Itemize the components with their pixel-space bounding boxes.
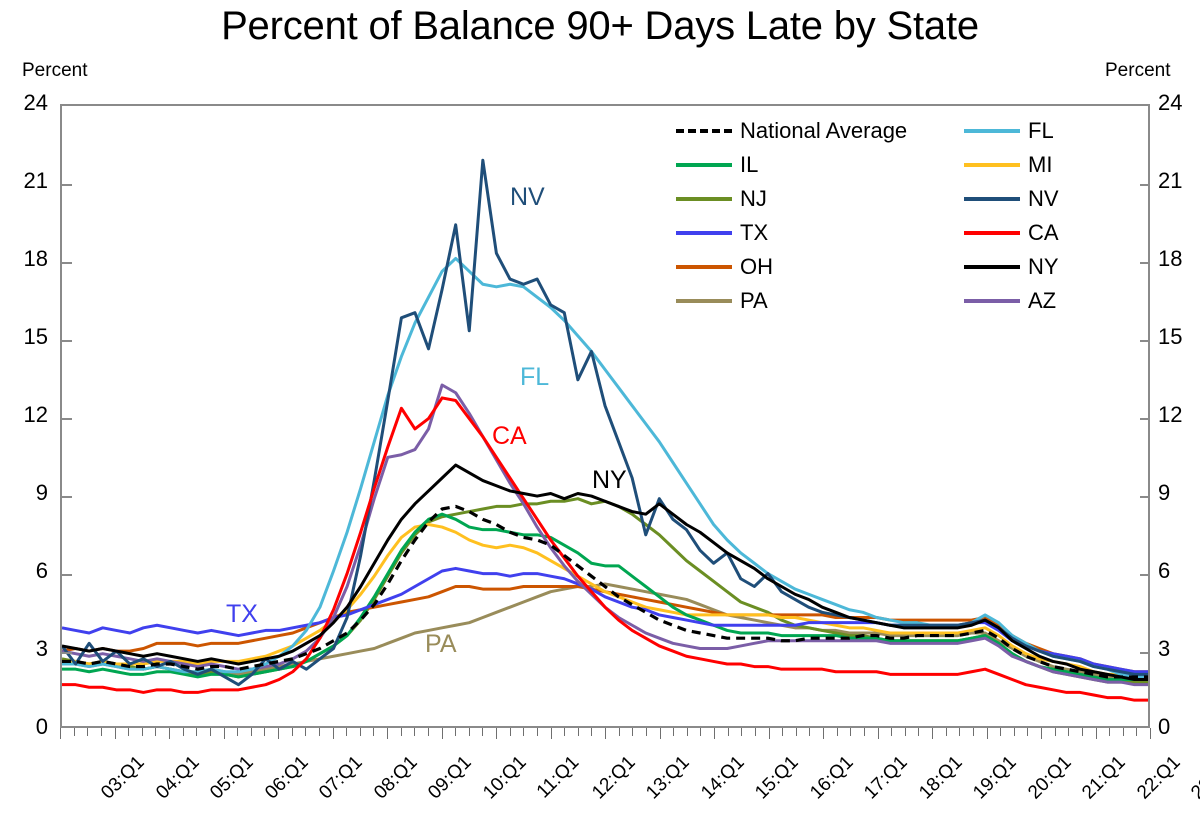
x-tick-mark: [210, 728, 211, 736]
x-tick-mark: [278, 728, 279, 739]
x-tick-mark: [346, 728, 347, 736]
x-tick-mark: [414, 728, 415, 736]
x-tick-mark: [1150, 728, 1151, 739]
x-tick-mark: [115, 728, 116, 739]
legend-label: PA: [740, 290, 768, 312]
y-tick-label-left: 12: [2, 402, 48, 428]
x-tick-label: 22:Q1: [1133, 752, 1185, 804]
x-tick-mark: [442, 728, 443, 739]
x-tick-mark: [74, 728, 75, 736]
x-tick-mark: [823, 728, 824, 739]
x-tick-mark: [183, 728, 184, 736]
x-tick-mark: [428, 728, 429, 736]
x-tick-label: 12:Q1: [588, 752, 640, 804]
y-tick-label-left: 9: [2, 480, 48, 506]
legend-item-national[interactable]: National Average: [676, 114, 907, 148]
legend-swatch-icon: [676, 163, 732, 167]
legend-item-fl[interactable]: FL: [964, 114, 1059, 148]
legend-swatch-icon: [964, 299, 1020, 303]
legend-column-right: FLMINVCANYAZ: [964, 114, 1059, 318]
x-tick-label: 21:Q1: [1078, 752, 1130, 804]
x-tick-mark: [769, 728, 770, 739]
x-tick-mark: [905, 728, 906, 736]
legend-item-pa[interactable]: PA: [676, 284, 907, 318]
series-annotation-ca: CA: [492, 422, 527, 451]
series-line-ny: [62, 465, 1148, 679]
x-tick-label: 20:Q1: [1024, 752, 1076, 804]
x-tick-label: 17:Q1: [860, 752, 912, 804]
legend-label: NJ: [740, 188, 767, 210]
x-tick-mark: [946, 728, 947, 736]
x-tick-mark: [510, 728, 511, 736]
y-tick-mark: [1140, 184, 1150, 186]
y-tick-label-left: 6: [2, 558, 48, 584]
x-tick-mark: [469, 728, 470, 736]
x-tick-mark: [1123, 728, 1124, 736]
x-tick-mark: [455, 728, 456, 736]
x-tick-mark: [728, 728, 729, 736]
y-tick-label-right: 9: [1158, 480, 1200, 506]
x-tick-mark: [237, 728, 238, 736]
x-tick-label: 03:Q1: [97, 752, 149, 804]
x-tick-mark: [741, 728, 742, 736]
x-tick-mark: [1055, 728, 1056, 736]
x-tick-label: 18:Q1: [915, 752, 967, 804]
x-tick-label: 04:Q1: [152, 752, 204, 804]
y-tick-mark: [62, 262, 72, 264]
y-tick-label-right: 21: [1158, 168, 1200, 194]
series-line-az: [62, 385, 1148, 685]
x-tick-mark: [1041, 728, 1042, 739]
legend-item-nv[interactable]: NV: [964, 182, 1059, 216]
series-annotation-fl: FL: [520, 363, 549, 392]
y-tick-mark: [1140, 262, 1150, 264]
series-annotation-nv: NV: [510, 183, 545, 212]
legend-label: AZ: [1028, 290, 1056, 312]
chart-title: Percent of Balance 90+ Days Late by Stat…: [0, 4, 1200, 49]
y-tick-mark: [1140, 340, 1150, 342]
x-tick-label: 13:Q1: [642, 752, 694, 804]
x-tick-mark: [646, 728, 647, 736]
legend-swatch-icon: [676, 231, 732, 235]
x-tick-mark: [496, 728, 497, 739]
legend-swatch-icon: [676, 265, 732, 269]
series-line-mi: [62, 525, 1148, 677]
y-tick-mark: [62, 574, 72, 576]
legend-label: TX: [740, 222, 768, 244]
legend-label: MI: [1028, 154, 1052, 176]
x-tick-mark: [1136, 728, 1137, 736]
x-tick-label: 15:Q1: [751, 752, 803, 804]
x-tick-mark: [932, 728, 933, 739]
legend-item-oh[interactable]: OH: [676, 250, 907, 284]
y-tick-label-right: 0: [1158, 714, 1200, 740]
y-tick-label-left: 24: [2, 90, 48, 116]
x-tick-mark: [537, 728, 538, 736]
x-tick-mark: [142, 728, 143, 736]
x-tick-mark: [1014, 728, 1015, 736]
x-tick-mark: [837, 728, 838, 736]
x-tick-mark: [523, 728, 524, 736]
legend-label: OH: [740, 256, 773, 278]
y-tick-mark: [62, 340, 72, 342]
x-tick-mark: [850, 728, 851, 736]
x-tick-mark: [878, 728, 879, 739]
series-annotation-tx: TX: [226, 600, 258, 629]
legend-swatch-icon: [964, 129, 1020, 133]
y-tick-mark: [1140, 418, 1150, 420]
x-tick-mark: [959, 728, 960, 736]
y-tick-mark: [62, 496, 72, 498]
x-tick-mark: [482, 728, 483, 736]
x-tick-label: 14:Q1: [697, 752, 749, 804]
legend-item-mi[interactable]: MI: [964, 148, 1059, 182]
legend-item-ny[interactable]: NY: [964, 250, 1059, 284]
x-tick-mark: [973, 728, 974, 736]
x-tick-mark: [224, 728, 225, 739]
x-tick-mark: [632, 728, 633, 736]
y-tick-label-left: 3: [2, 636, 48, 662]
x-tick-mark: [251, 728, 252, 736]
x-tick-mark: [619, 728, 620, 736]
x-tick-mark: [1096, 728, 1097, 739]
x-tick-mark: [700, 728, 701, 736]
x-tick-mark: [101, 728, 102, 736]
x-tick-mark: [660, 728, 661, 739]
x-tick-mark: [714, 728, 715, 739]
legend-swatch-icon: [964, 265, 1020, 269]
x-tick-mark: [196, 728, 197, 736]
x-tick-label: 16:Q1: [806, 752, 858, 804]
y-tick-label-right: 24: [1158, 90, 1200, 116]
x-tick-mark: [605, 728, 606, 739]
legend-swatch-icon: [676, 129, 732, 133]
x-tick-mark: [591, 728, 592, 736]
legend-swatch-icon: [964, 197, 1020, 201]
x-tick-mark: [755, 728, 756, 736]
y-axis-unit-right: Percent: [1105, 60, 1170, 82]
x-tick-mark: [687, 728, 688, 736]
x-tick-mark: [578, 728, 579, 736]
y-tick-mark: [1140, 652, 1150, 654]
y-tick-mark: [62, 418, 72, 420]
y-tick-mark: [62, 184, 72, 186]
x-tick-mark: [169, 728, 170, 739]
x-tick-label: 23:Q1: [1187, 752, 1200, 804]
x-tick-mark: [864, 728, 865, 736]
x-tick-mark: [319, 728, 320, 736]
y-tick-label-right: 15: [1158, 324, 1200, 350]
y-tick-label-right: 3: [1158, 636, 1200, 662]
y-tick-label-right: 6: [1158, 558, 1200, 584]
legend-label: FL: [1028, 120, 1054, 142]
y-tick-label-right: 18: [1158, 246, 1200, 272]
x-tick-label: 10:Q1: [479, 752, 531, 804]
series-annotation-pa: PA: [425, 630, 457, 659]
x-tick-mark: [373, 728, 374, 736]
x-tick-mark: [60, 728, 61, 739]
legend-label: NY: [1028, 256, 1059, 278]
x-tick-label: 08:Q1: [370, 752, 422, 804]
x-tick-mark: [305, 728, 306, 736]
legend-swatch-icon: [964, 231, 1020, 235]
x-tick-mark: [987, 728, 988, 739]
legend-item-ca[interactable]: CA: [964, 216, 1059, 250]
legend-label: IL: [740, 154, 758, 176]
series-annotation-ny: NY: [592, 466, 627, 495]
x-tick-mark: [551, 728, 552, 739]
x-tick-mark: [564, 728, 565, 736]
x-tick-mark: [796, 728, 797, 736]
x-tick-mark: [1082, 728, 1083, 736]
y-tick-label-left: 0: [2, 714, 48, 740]
series-line-ca: [62, 398, 1148, 700]
y-tick-mark: [62, 652, 72, 654]
chart-page: Percent of Balance 90+ Days Late by Stat…: [0, 0, 1200, 821]
y-tick-label-left: 18: [2, 246, 48, 272]
x-tick-mark: [360, 728, 361, 736]
x-tick-mark: [264, 728, 265, 736]
x-tick-mark: [918, 728, 919, 736]
x-tick-label: 05:Q1: [206, 752, 258, 804]
y-tick-mark: [1140, 496, 1150, 498]
x-tick-label: 19:Q1: [969, 752, 1021, 804]
x-tick-mark: [87, 728, 88, 736]
x-tick-mark: [1027, 728, 1028, 736]
legend-swatch-icon: [676, 197, 732, 201]
y-tick-label-left: 15: [2, 324, 48, 350]
y-tick-label-left: 21: [2, 168, 48, 194]
legend-label: NV: [1028, 188, 1059, 210]
x-tick-label: 07:Q1: [315, 752, 367, 804]
legend-column-left: National AverageILNJTXOHPA: [676, 114, 907, 318]
legend-swatch-icon: [676, 299, 732, 303]
legend-item-tx[interactable]: TX: [676, 216, 907, 250]
legend-label: National Average: [740, 120, 907, 142]
legend-item-az[interactable]: AZ: [964, 284, 1059, 318]
x-tick-mark: [155, 728, 156, 736]
y-tick-mark: [1140, 574, 1150, 576]
y-tick-label-right: 12: [1158, 402, 1200, 428]
x-tick-mark: [1000, 728, 1001, 736]
legend-label: CA: [1028, 222, 1059, 244]
x-tick-label: 11:Q1: [533, 752, 584, 803]
x-tick-mark: [782, 728, 783, 736]
x-tick-mark: [809, 728, 810, 736]
x-tick-mark: [891, 728, 892, 736]
x-tick-mark: [1068, 728, 1069, 736]
legend-item-il[interactable]: IL: [676, 148, 907, 182]
x-tick-mark: [292, 728, 293, 736]
y-axis-unit-left: Percent: [22, 60, 87, 82]
x-tick-mark: [673, 728, 674, 736]
x-tick-mark: [333, 728, 334, 739]
x-tick-mark: [128, 728, 129, 736]
x-tick-mark: [387, 728, 388, 739]
x-tick-mark: [1109, 728, 1110, 736]
legend-swatch-icon: [964, 163, 1020, 167]
x-tick-mark: [401, 728, 402, 736]
x-tick-label: 06:Q1: [261, 752, 313, 804]
x-tick-label: 09:Q1: [424, 752, 476, 804]
legend-item-nj[interactable]: NJ: [676, 182, 907, 216]
